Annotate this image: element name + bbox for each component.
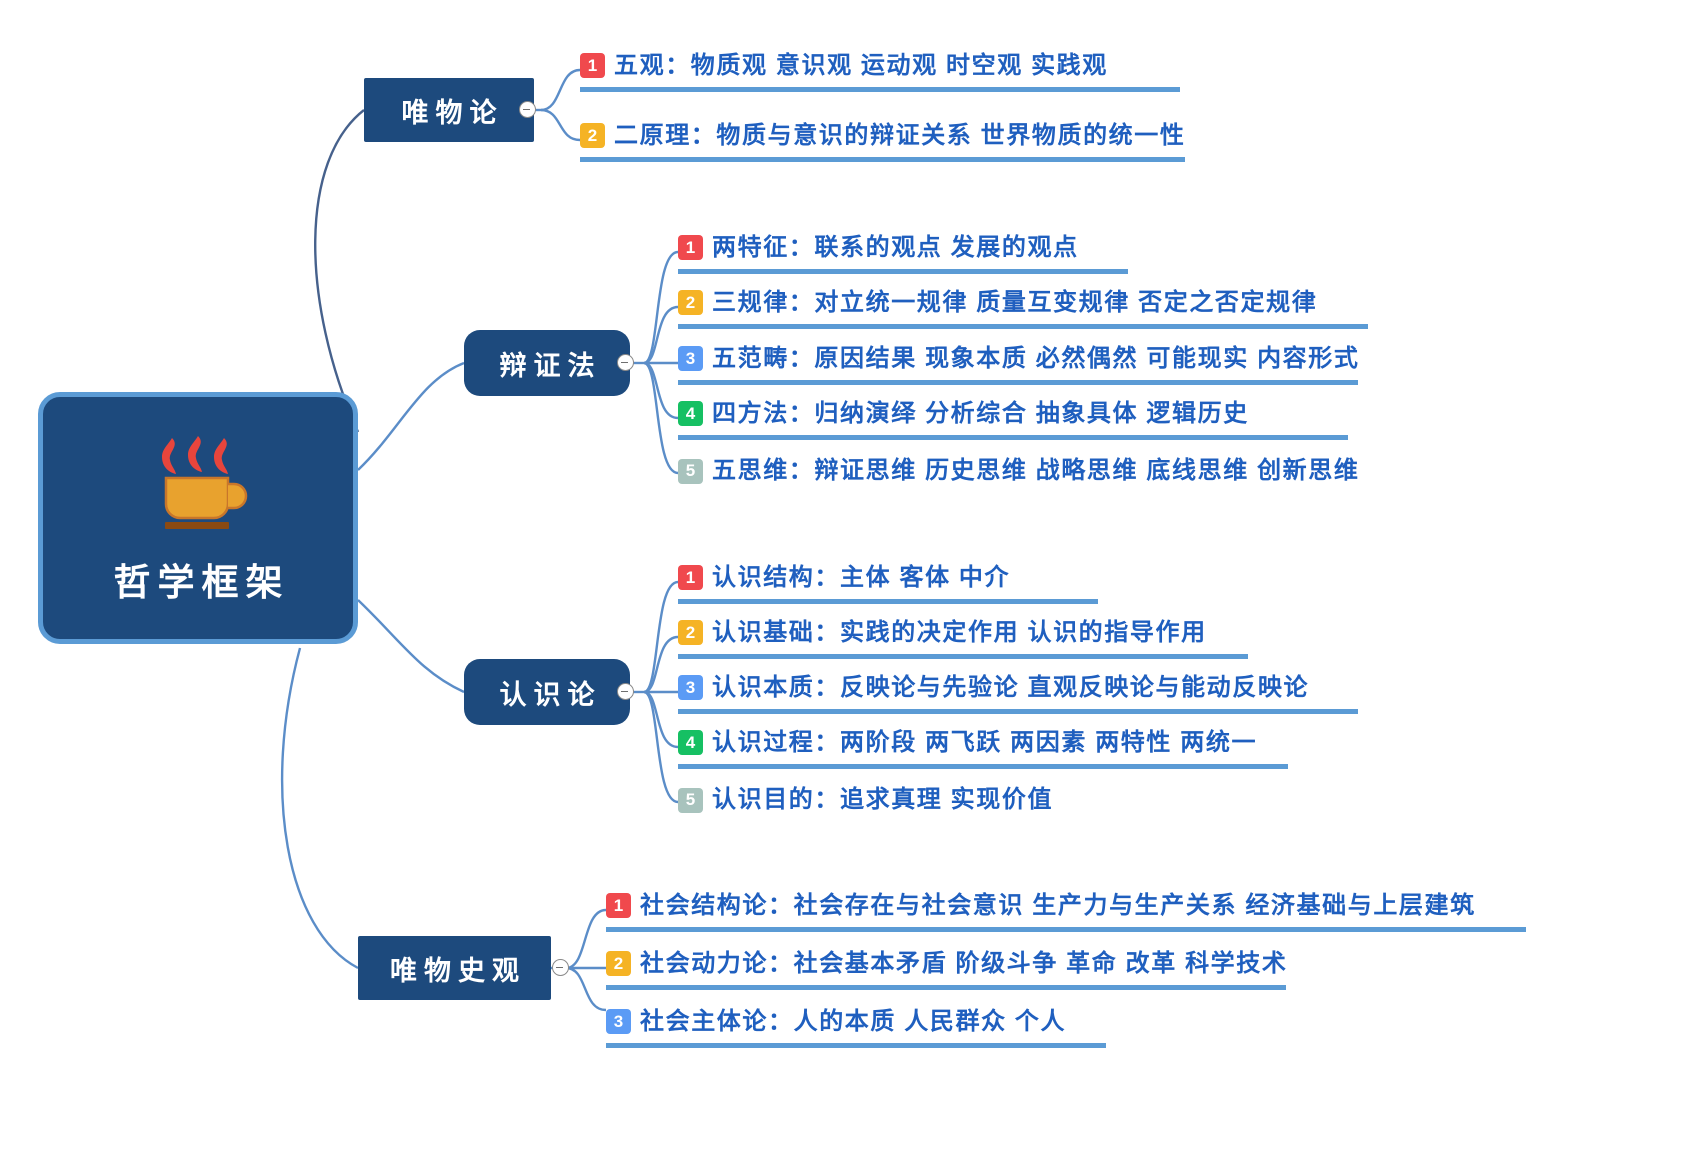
leaf-row[interactable]: 2 社会动力论：社会基本矛盾 阶级斗争 革命 改革 科学技术 [606, 946, 1286, 990]
leaf-badge: 4 [678, 401, 703, 426]
leaf-text: 社会结构论：社会存在与社会意识 生产力与生产关系 经济基础与上层建筑 [640, 894, 1476, 918]
leaf-row[interactable]: 5 认识目的：追求真理 实现价值 [678, 780, 1098, 824]
mindmap-canvas: 哲学框架 唯物论 1 五观：物质观 意识观 运动观 时空观 实践观 2 二原理：… [0, 0, 1706, 1150]
leaf-badge: 1 [606, 893, 631, 918]
collapse-toggle-bianzhengfa[interactable] [617, 354, 634, 371]
leaf-text: 认识目的：追求真理 实现价值 [712, 788, 1053, 812]
root-title: 哲学框架 [107, 552, 290, 606]
leaf-row[interactable]: 3 社会主体论：人的本质 人民群众 个人 [606, 1004, 1106, 1048]
leaf-text: 五思维：辩证思维 历史思维 战略思维 底线思维 创新思维 [712, 459, 1359, 483]
leaf-text: 五观：物质观 意识观 运动观 时空观 实践观 [614, 54, 1108, 78]
branch-node-weiwushiguan[interactable]: 唯物史观 [358, 936, 551, 1000]
leaf-text: 社会动力论：社会基本矛盾 阶级斗争 革命 改革 科学技术 [640, 952, 1287, 976]
leaf-badge: 2 [606, 951, 631, 976]
branch-label: 唯物论 [395, 91, 504, 130]
leaf-row[interactable]: 4 认识过程：两阶段 两飞跃 两因素 两特性 两统一 [678, 725, 1288, 769]
leaf-text: 四方法：归纳演绎 分析综合 抽象具体 逻辑历史 [712, 402, 1249, 426]
leaf-row[interactable]: 1 社会结构论：社会存在与社会意识 生产力与生产关系 经济基础与上层建筑 [606, 888, 1526, 932]
root-node[interactable]: 哲学框架 [38, 392, 358, 644]
leaf-row[interactable]: 3 五范畴：原因结果 现象本质 必然偶然 可能现实 内容形式 [678, 341, 1358, 385]
leaf-badge: 3 [678, 675, 703, 700]
leaf-row[interactable]: 1 两特征：联系的观点 发展的观点 [678, 230, 1128, 274]
branch-label: 唯物史观 [383, 949, 526, 988]
leaf-badge: 1 [580, 53, 605, 78]
leaf-badge: 2 [580, 123, 605, 148]
coffee-cup-icon [136, 430, 260, 542]
leaf-badge: 3 [678, 346, 703, 371]
branch-label: 辩证法 [493, 344, 602, 383]
leaf-text: 五范畴：原因结果 现象本质 必然偶然 可能现实 内容形式 [712, 347, 1359, 371]
leaf-row[interactable]: 2 三规律：对立统一规律 质量互变规律 否定之否定规律 [678, 285, 1368, 329]
leaf-row[interactable]: 4 四方法：归纳演绎 分析综合 抽象具体 逻辑历史 [678, 396, 1348, 440]
leaf-text: 三规律：对立统一规律 质量互变规律 否定之否定规律 [712, 291, 1317, 315]
collapse-toggle-weiwushiguan[interactable] [552, 959, 569, 976]
leaf-badge: 1 [678, 235, 703, 260]
leaf-text: 二原理：物质与意识的辩证关系 世界物质的统一性 [614, 124, 1185, 148]
leaf-text: 社会主体论：人的本质 人民群众 个人 [640, 1010, 1066, 1034]
leaf-row[interactable]: 3 认识本质：反映论与先验论 直观反映论与能动反映论 [678, 670, 1358, 714]
leaf-text: 认识过程：两阶段 两飞跃 两因素 两特性 两统一 [712, 731, 1257, 755]
branch-node-bianzhengfa[interactable]: 辩证法 [464, 330, 630, 396]
leaf-row[interactable]: 2 认识基础：实践的决定作用 认识的指导作用 [678, 615, 1248, 659]
collapse-toggle-weiwulun[interactable] [519, 101, 536, 118]
leaf-badge: 3 [606, 1009, 631, 1034]
leaf-badge: 4 [678, 730, 703, 755]
leaf-row[interactable]: 1 认识结构：主体 客体 中介 [678, 560, 1098, 604]
leaf-text: 两特征：联系的观点 发展的观点 [712, 236, 1079, 260]
leaf-text: 认识本质：反映论与先验论 直观反映论与能动反映论 [712, 676, 1309, 700]
branch-node-weiwulun[interactable]: 唯物论 [364, 78, 534, 142]
leaf-text: 认识结构：主体 客体 中介 [712, 566, 1010, 590]
leaf-row[interactable]: 5 五思维：辩证思维 历史思维 战略思维 底线思维 创新思维 [678, 451, 1368, 495]
leaf-row[interactable]: 1 五观：物质观 意识观 运动观 时空观 实践观 [580, 48, 1180, 92]
leaf-badge: 2 [678, 290, 703, 315]
branch-node-renshilun[interactable]: 认识论 [464, 659, 630, 725]
collapse-toggle-renshilun[interactable] [617, 683, 634, 700]
branch-label: 认识论 [493, 673, 602, 712]
leaf-badge: 5 [678, 788, 703, 813]
leaf-badge: 2 [678, 620, 703, 645]
leaf-badge: 1 [678, 565, 703, 590]
leaf-row[interactable]: 2 二原理：物质与意识的辩证关系 世界物质的统一性 [580, 118, 1185, 162]
leaf-text: 认识基础：实践的决定作用 认识的指导作用 [712, 621, 1207, 645]
leaf-badge: 5 [678, 459, 703, 484]
